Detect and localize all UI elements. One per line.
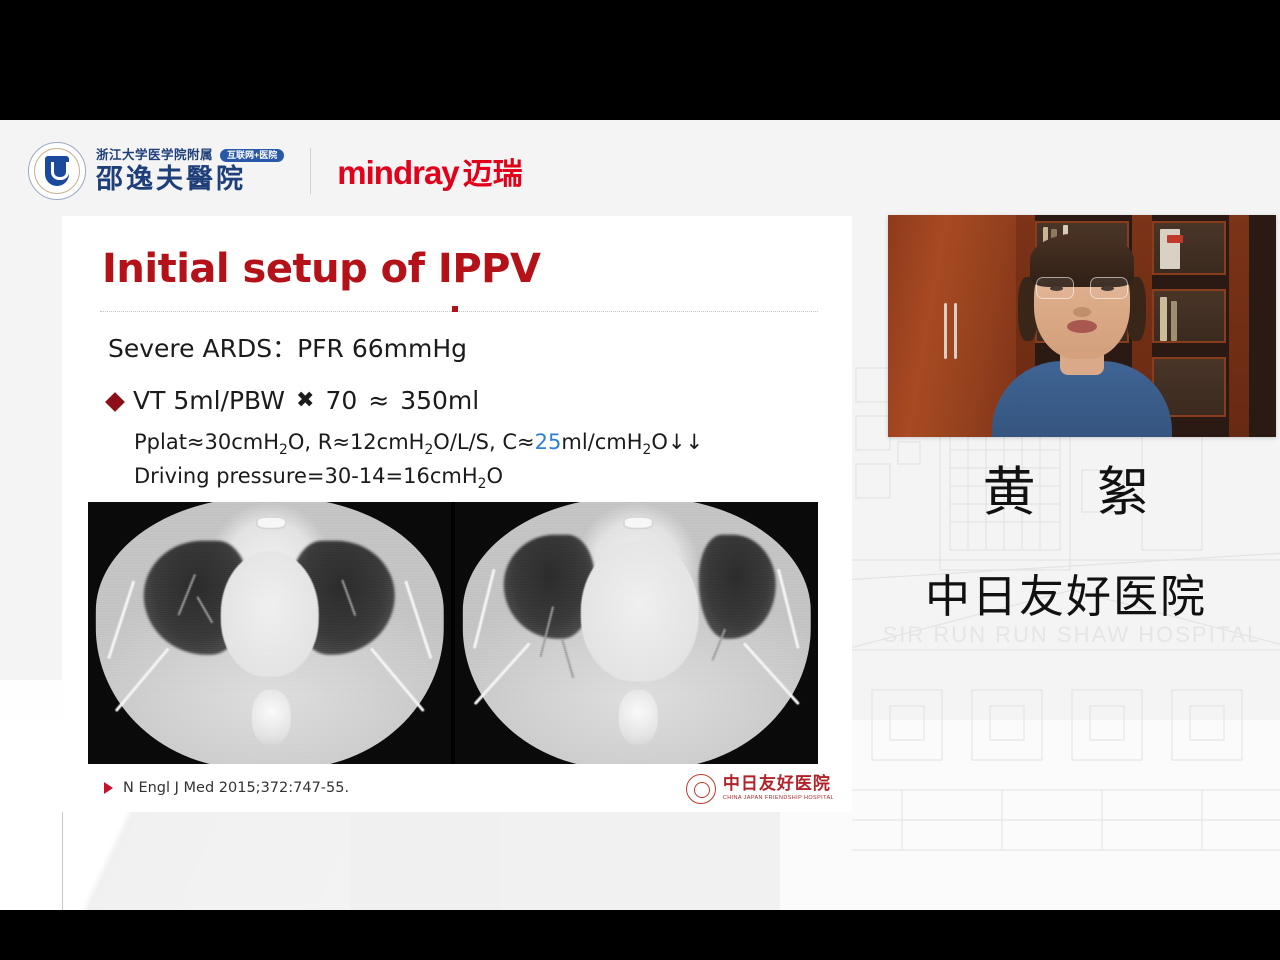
ct-thorax-left bbox=[95, 502, 443, 764]
speaker-panel: SIR RUN RUN SHAW HOSPITAL bbox=[852, 120, 1280, 910]
china-japan-friendship-hospital-logo: 中日友好医院 CHINA JAPAN FRIENDSHIP HOSPITAL bbox=[686, 774, 834, 804]
ct-vertebra-a bbox=[252, 690, 290, 744]
slide-line-driving-pressure: Driving pressure=30-14=16cmH2O bbox=[134, 464, 503, 492]
ct-trachea-a bbox=[256, 516, 287, 530]
ct-rib bbox=[370, 647, 425, 712]
bullet-vt-line: VT 5ml/PBW ✖ 70 ≈ 350ml bbox=[108, 386, 479, 415]
speaker-webcam[interactable] bbox=[888, 215, 1276, 437]
cjfh-seal-icon bbox=[686, 774, 716, 804]
logo-divider bbox=[310, 148, 311, 194]
resistance-tail: O/L/S, C≈ bbox=[433, 430, 534, 454]
ct-mediastinum-a bbox=[221, 551, 319, 676]
title-divider-marker bbox=[452, 306, 458, 312]
resistance-subscript: 2 bbox=[424, 442, 433, 458]
pplat-text: Pplat≈30cmH bbox=[134, 430, 279, 454]
crest-shield-icon bbox=[45, 156, 69, 186]
compliance-tail: ml/cmH bbox=[561, 430, 642, 454]
hospital-affiliation-row: 浙江大学医学院附属 互联网+医院 bbox=[96, 149, 284, 162]
slide-subtitle: Severe ARDS：PFR 66mmHg bbox=[108, 329, 467, 365]
webcam-bg-shelf-post bbox=[1229, 215, 1248, 437]
speaker-mouth bbox=[1067, 320, 1097, 333]
ct-sternum-b bbox=[623, 516, 654, 530]
pplat-tail: O, R≈12cmH bbox=[288, 430, 425, 454]
hospital-affiliation: 浙江大学医学院附属 bbox=[96, 149, 213, 162]
citation: N Engl J Med 2015;372:747-55. bbox=[104, 780, 349, 796]
compliance-end: O↓↓ bbox=[651, 430, 703, 454]
bullet-vt-result: 350ml bbox=[400, 386, 479, 415]
presentation-slide: Initial setup of IPPV Severe ARDS：PFR 66… bbox=[62, 216, 852, 812]
title-divider bbox=[100, 311, 818, 312]
compliance-value: 25 bbox=[535, 430, 562, 454]
mindray-logo: mindray 迈瑞 bbox=[337, 149, 522, 193]
ct-image-pair bbox=[88, 502, 818, 764]
cabinet-handle-icon bbox=[944, 303, 947, 359]
driving-pressure-tail: O bbox=[486, 464, 503, 488]
hospital-wordmark: 浙江大学医学院附属 互联网+医院 邵逸夫醫院 bbox=[96, 149, 284, 193]
ct-vertebra-b bbox=[619, 690, 657, 744]
cabinet-handle-icon bbox=[954, 303, 957, 359]
ct-vessel bbox=[561, 639, 574, 678]
ct-rib bbox=[404, 580, 432, 659]
multiply-icon: ✖ bbox=[296, 388, 314, 413]
cjfh-name-en: CHINA JAPAN FRIENDSHIP HOSPITAL bbox=[723, 796, 834, 802]
ct-thorax-right bbox=[462, 502, 810, 764]
ct-image-right bbox=[455, 502, 818, 764]
bullet-vt-prefix: VT 5ml/PBW bbox=[133, 386, 285, 415]
ct-rib bbox=[474, 642, 531, 705]
speaker-organization: 中日友好医院 bbox=[852, 560, 1280, 625]
ct-rib bbox=[473, 568, 496, 648]
speaker-nose bbox=[1073, 307, 1091, 317]
video-frame: 浙江大学医学院附属 互联网+医院 邵逸夫醫院 mindray 迈瑞 Initia… bbox=[0, 0, 1280, 960]
logo-group: 浙江大学医学院附属 互联网+医院 邵逸夫醫院 mindray 迈瑞 bbox=[28, 142, 523, 200]
approx-icon: ≈ bbox=[368, 386, 389, 415]
hospital-name: 邵逸夫醫院 bbox=[96, 166, 284, 193]
driving-pressure-text: Driving pressure=30-14=16cmH bbox=[134, 464, 478, 488]
ct-rib bbox=[777, 568, 800, 648]
speaker-glasses-icon bbox=[1036, 277, 1128, 297]
mindray-name-cn: 迈瑞 bbox=[463, 149, 523, 193]
ct-rib bbox=[742, 642, 799, 705]
ct-heart-b bbox=[581, 540, 699, 682]
speaker-figure bbox=[982, 237, 1182, 437]
mindray-name-en: mindray bbox=[337, 154, 458, 192]
watermark-text: SIR RUN RUN SHAW HOSPITAL bbox=[883, 622, 1262, 647]
cjfh-name-cn: 中日友好医院 bbox=[723, 776, 834, 794]
glasses-lens-left bbox=[1036, 277, 1074, 299]
letterbox-bottom bbox=[0, 910, 1280, 960]
bullet-vt-factor: 70 bbox=[325, 386, 357, 415]
ct-rib bbox=[107, 580, 135, 659]
slide-line-mechanics: Pplat≈30cmH2O, R≈12cmH2O/L/S, C≈25ml/cmH… bbox=[134, 430, 703, 458]
pplat-subscript: 2 bbox=[279, 442, 288, 458]
internet-hospital-badge: 互联网+医院 bbox=[220, 149, 284, 162]
speaker-name: 黄 絮 bbox=[852, 450, 1280, 526]
ct-image-left bbox=[88, 502, 451, 764]
ct-lung-right-b bbox=[699, 535, 776, 639]
diamond-bullet-icon bbox=[105, 392, 125, 412]
cjfh-wordmark: 中日友好医院 CHINA JAPAN FRIENDSHIP HOSPITAL bbox=[723, 776, 834, 802]
triangle-bullet-icon bbox=[104, 782, 113, 794]
slide-title: Initial setup of IPPV bbox=[102, 246, 540, 292]
letterbox-top bbox=[0, 0, 1280, 120]
broadcast-canvas: 浙江大学医学院附属 互联网+医院 邵逸夫醫院 mindray 迈瑞 Initia… bbox=[0, 120, 1280, 910]
citation-text: N Engl J Med 2015;372:747-55. bbox=[123, 780, 349, 796]
glasses-lens-right bbox=[1090, 277, 1128, 299]
sir-run-run-shaw-crest-icon bbox=[28, 142, 86, 200]
ct-rib bbox=[115, 647, 170, 712]
